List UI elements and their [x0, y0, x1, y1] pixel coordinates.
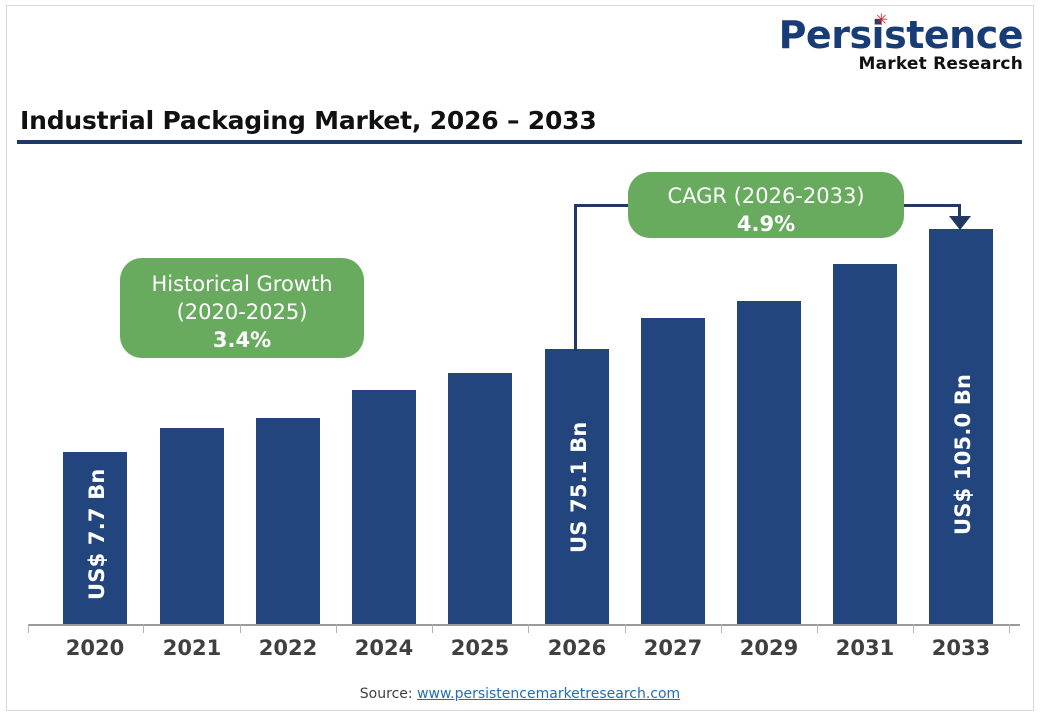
x-axis-label-2031: 2031 — [815, 636, 915, 660]
x-axis-label-2021: 2021 — [142, 636, 242, 660]
bar-2031 — [833, 264, 897, 624]
bar-2024 — [352, 390, 416, 624]
x-axis-tick-6 — [625, 624, 626, 633]
x-axis-label-2027: 2027 — [623, 636, 723, 660]
x-axis-label-2029: 2029 — [719, 636, 819, 660]
x-axis-tick-4 — [432, 624, 433, 633]
historical-growth-value: 3.4% — [120, 326, 364, 354]
bar-value-label-2020: US$ 7.7 Bn — [85, 468, 109, 600]
bar-chart: US$ 7.7 BnUS 75.1 BnUS$ 105.0 Bn 2020202… — [0, 0, 1040, 720]
cagr-callout: CAGR (2026-2033) 4.9% — [628, 172, 904, 238]
x-axis-label-2022: 2022 — [238, 636, 338, 660]
source-prefix: Source: — [360, 686, 417, 702]
x-axis-line — [28, 624, 1020, 626]
x-axis-tick-10 — [1009, 624, 1010, 633]
x-axis-label-2033: 2033 — [911, 636, 1011, 660]
arrowhead-icon — [949, 216, 971, 230]
x-axis-tick-0 — [28, 624, 29, 633]
infographic-canvas: Persistence ✳ Market Research Industrial… — [0, 0, 1040, 720]
x-axis-tick-8 — [817, 624, 818, 633]
source-link[interactable]: www.persistencemarketresearch.com — [417, 686, 680, 702]
cagr-line1: CAGR (2026-2033) — [628, 182, 904, 210]
x-axis-label-2024: 2024 — [334, 636, 434, 660]
x-axis-label-2026: 2026 — [527, 636, 627, 660]
x-axis-tick-1 — [143, 624, 144, 633]
x-axis-label-2020: 2020 — [45, 636, 145, 660]
bar-2022 — [256, 418, 320, 624]
source-note: Source: www.persistencemarketresearch.co… — [0, 686, 1040, 702]
cagr-value: 4.9% — [628, 210, 904, 238]
x-axis-tick-5 — [528, 624, 529, 633]
bar-2027 — [641, 318, 705, 624]
cagr-connector-left-vertical — [574, 204, 577, 351]
x-axis-tick-3 — [336, 624, 337, 633]
bar-value-label-2033: US$ 105.0 Bn — [951, 374, 975, 535]
historical-growth-line2: (2020-2025) — [120, 298, 364, 326]
historical-growth-callout: Historical Growth (2020-2025) 3.4% — [120, 258, 364, 358]
x-axis-tick-7 — [721, 624, 722, 633]
bar-value-label-2026: US 75.1 Bn — [567, 421, 591, 553]
bar-2021 — [160, 428, 224, 624]
x-axis-label-2025: 2025 — [430, 636, 530, 660]
x-axis-tick-2 — [240, 624, 241, 633]
historical-growth-line1: Historical Growth — [120, 270, 364, 298]
x-axis-tick-9 — [913, 624, 914, 633]
bar-2025 — [448, 373, 512, 624]
bar-2029 — [737, 301, 801, 624]
